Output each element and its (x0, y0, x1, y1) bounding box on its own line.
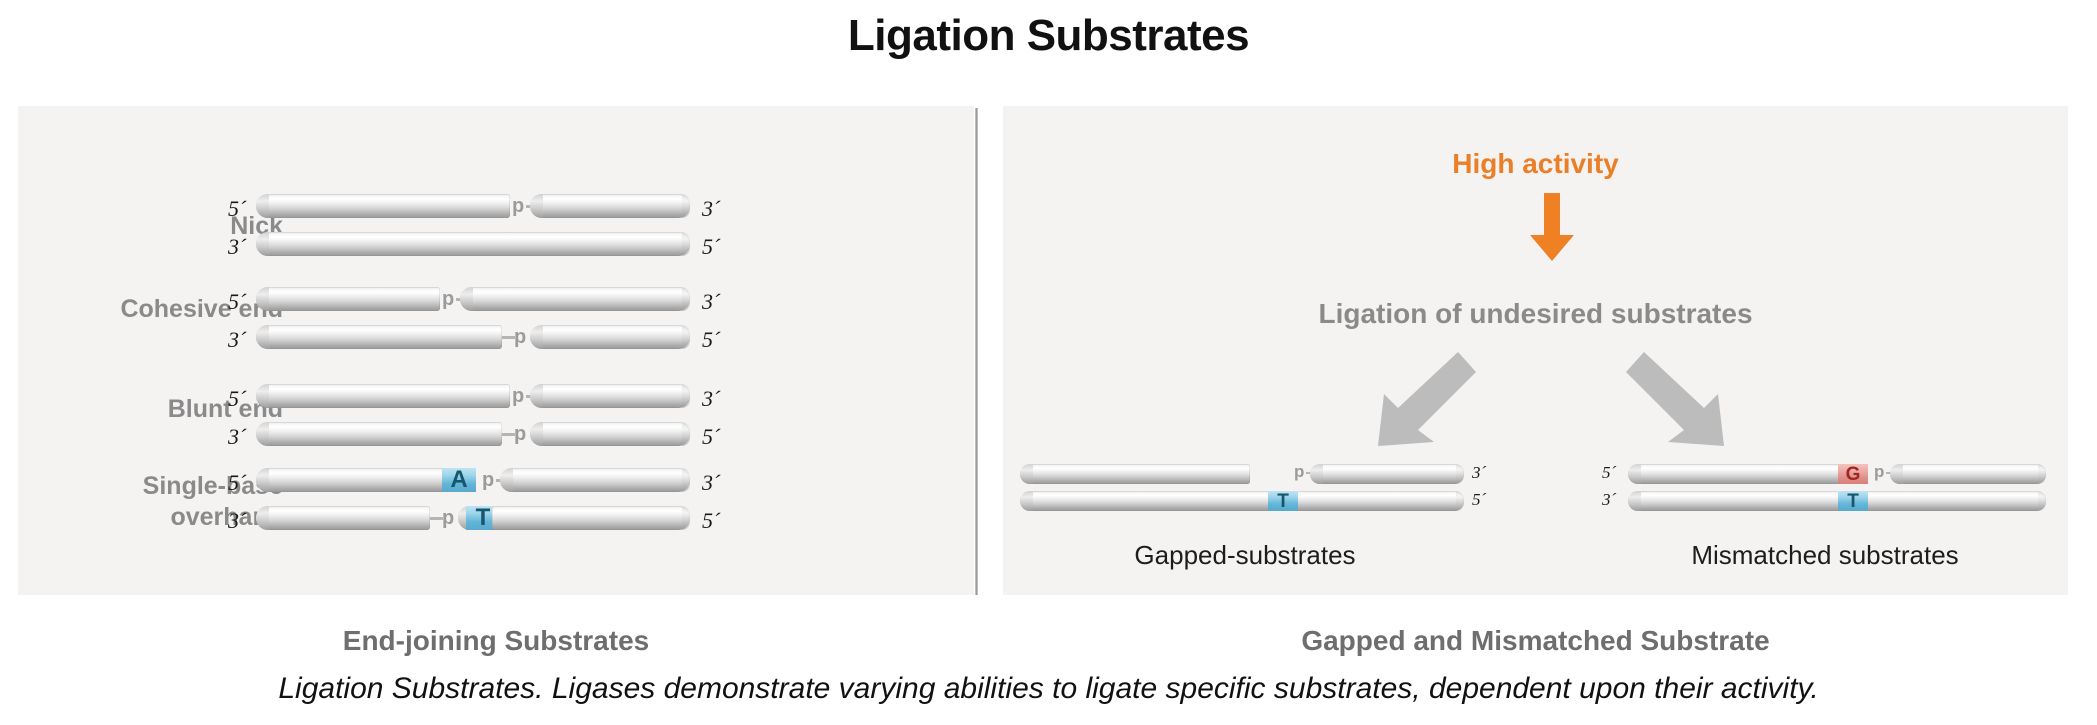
dna-strand-gapped-bottom (1020, 491, 1464, 511)
end-label-3prime: 3´ (228, 424, 246, 450)
figure-caption: Ligation Substrates. Ligases demonstrate… (0, 672, 2097, 706)
dna-strand-blunt-bottom-right (530, 422, 690, 446)
end-label-5prime: 5´ (702, 508, 720, 534)
gapped-substrates-caption: Gapped-substrates (1020, 540, 1470, 571)
right-panel-footer: Gapped and Mismatched Substrate (1003, 625, 2068, 657)
phosphate-label: p (514, 326, 526, 349)
dna-strand-nick-top-left (256, 194, 510, 218)
phosphate-label: p (442, 288, 454, 311)
end-joining-substrates-panel: Nick 5´ p 3´ 3´ 5´ Cohesive end 5´ p 3´ … (18, 106, 974, 595)
phosphate-label: p (512, 385, 524, 408)
dna-strand-blunt-top-right (530, 384, 690, 408)
end-label-5prime: 5´ (1472, 490, 1486, 510)
phosphate-label: p (482, 469, 494, 492)
end-label-5prime: 5´ (702, 327, 720, 353)
high-activity-label: High activity (1003, 148, 2068, 180)
dna-strand-overhang-bottom-right (492, 506, 690, 530)
dna-strand-blunt-top-left (256, 384, 510, 408)
base-a: A (442, 468, 476, 492)
dna-strand-cohesive-top-right (460, 287, 690, 311)
dna-strand-mismatched-top-left (1628, 464, 1860, 484)
panel-divider (975, 108, 978, 595)
left-panel-footer: End-joining Substrates (18, 625, 974, 657)
end-label-3prime: 3´ (702, 289, 720, 315)
dna-strand-gapped-top-left (1020, 464, 1250, 484)
end-label-3prime: 3´ (1472, 463, 1486, 483)
base-t: T (1268, 491, 1298, 511)
dna-strand-nick-top-right (530, 194, 690, 218)
end-label-5prime: 5´ (702, 424, 720, 450)
dna-strand-nick-bottom (256, 232, 690, 256)
end-label-5prime: 5´ (228, 196, 246, 222)
end-label-5prime: 5´ (1602, 463, 1616, 483)
dna-strand-cohesive-bottom-left (256, 325, 502, 349)
dna-strand-overhang-top-right (500, 468, 690, 492)
page-title: Ligation Substrates (0, 11, 2097, 61)
mismatched-substrates-caption: Mismatched substrates (1600, 540, 2050, 571)
phosphate-label: p (1874, 462, 1884, 482)
end-label-3prime: 3´ (702, 470, 720, 496)
end-label-5prime: 5´ (702, 234, 720, 260)
dna-strand-blunt-bottom-left (256, 422, 502, 446)
dna-strand-cohesive-top-left (256, 287, 440, 311)
end-label-5prime: 5´ (228, 289, 246, 315)
end-label-3prime: 3´ (228, 327, 246, 353)
end-label-3prime: 3´ (228, 508, 246, 534)
dna-strand-cohesive-bottom-right (530, 325, 690, 349)
end-label-5prime: 5´ (228, 470, 246, 496)
arrow-down-right-icon (1620, 350, 1730, 450)
base-g: G (1838, 464, 1868, 484)
end-label-3prime: 3´ (1602, 490, 1616, 510)
phosphate-label: p (512, 195, 524, 218)
arrow-down-icon (1522, 193, 1582, 263)
dna-strand-overhang-bottom-left (256, 506, 430, 530)
undesired-substrates-label: Ligation of undesired substrates (1003, 298, 2068, 330)
end-label-3prime: 3´ (702, 196, 720, 222)
figure-root: Ligation Substrates Nick 5´ p 3´ 3´ 5´ C… (0, 0, 2097, 725)
end-label-3prime: 3´ (228, 234, 246, 260)
arrow-down-left-icon (1372, 350, 1482, 450)
base-t: T (1838, 491, 1868, 511)
phosphate-label: p (1294, 462, 1304, 482)
end-label-5prime: 5´ (228, 386, 246, 412)
dna-strand-mismatched-top-right (1890, 464, 2046, 484)
dna-strand-mismatched-bottom (1628, 491, 2046, 511)
dna-strand-gapped-top-right (1310, 464, 1464, 484)
phosphate-label: p (442, 507, 454, 530)
phosphate-label: p (514, 423, 526, 446)
end-label-3prime: 3´ (702, 386, 720, 412)
